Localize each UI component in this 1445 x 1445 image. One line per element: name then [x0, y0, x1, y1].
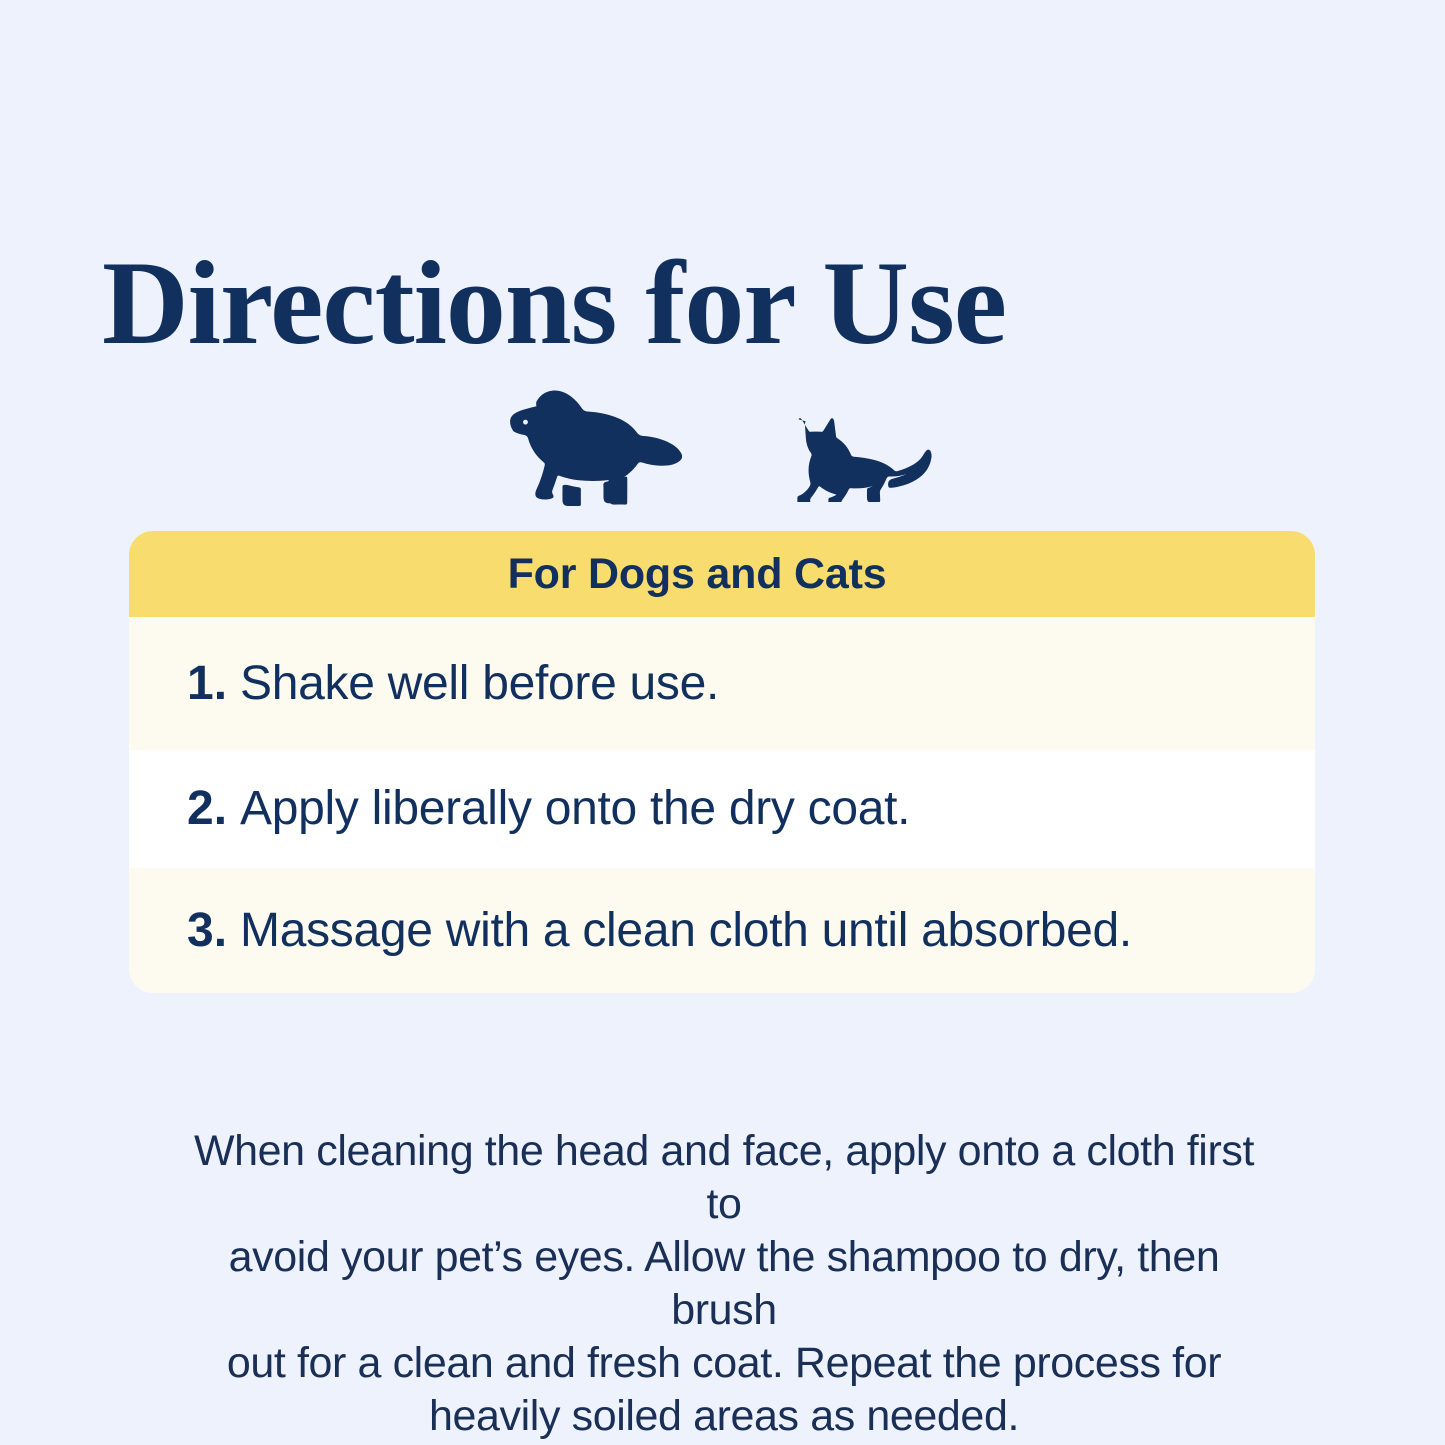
footnote-line: avoid your pet’s eyes. Allow the shampoo…	[229, 1233, 1220, 1334]
directions-for-use-panel: Directions for Use For Dogs and Cats 1. …	[0, 0, 1445, 1445]
step-number: 2.	[187, 785, 227, 833]
cat-silhouette-icon	[778, 418, 936, 502]
page-title: Directions for Use	[102, 243, 1342, 363]
step-text: Massage with a clean cloth until absorbe…	[240, 907, 1132, 955]
list-item: 2. Apply liberally onto the dry coat.	[129, 750, 1315, 868]
footnote-line: heavily soiled areas as needed.	[429, 1392, 1019, 1440]
list-item: 1. Shake well before use.	[129, 617, 1315, 750]
card-header-title: For Dogs and Cats	[508, 553, 887, 596]
step-text: Shake well before use.	[240, 660, 719, 708]
list-item: 3. Massage with a clean cloth until abso…	[129, 868, 1315, 993]
card-header: For Dogs and Cats	[129, 531, 1315, 617]
step-number: 3.	[187, 907, 227, 955]
step-number: 1.	[187, 660, 227, 708]
footnote-text: When cleaning the head and face, apply o…	[178, 1125, 1270, 1443]
directions-card: For Dogs and Cats 1. Shake well before u…	[129, 531, 1315, 993]
footnote-line: out for a clean and fresh coat. Repeat t…	[227, 1339, 1221, 1387]
dog-silhouette-icon	[510, 390, 686, 506]
pet-icon-row	[0, 378, 1445, 506]
footnote-line: When cleaning the head and face, apply o…	[194, 1127, 1254, 1228]
step-text: Apply liberally onto the dry coat.	[240, 785, 910, 833]
